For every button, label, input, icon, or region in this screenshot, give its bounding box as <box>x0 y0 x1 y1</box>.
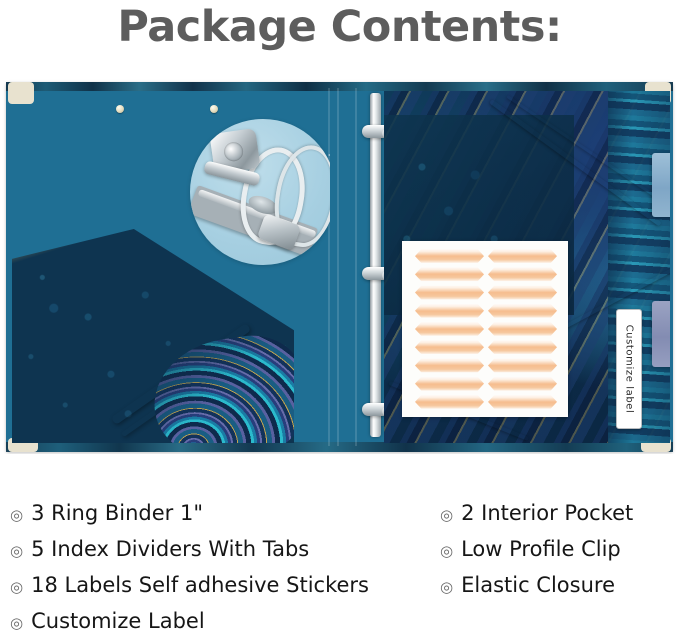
label-sticker <box>415 266 484 282</box>
label-sticker <box>488 248 557 264</box>
double-circle-bullet-icon: ◎ <box>10 570 23 604</box>
binder-open-body: Customize label <box>6 82 673 452</box>
label-sticker <box>415 394 484 410</box>
package-contents-item: ◎18 Labels Self adhesive Stickers <box>10 568 430 604</box>
label-sticker <box>488 321 557 337</box>
package-contents-item: ◎Customize Label <box>10 604 430 640</box>
cover-rivet <box>210 105 218 113</box>
package-contents-item-label: Elastic Closure <box>461 568 615 602</box>
label-sticker <box>415 376 484 392</box>
package-contents-item: ◎Low Profile Clip <box>440 532 679 568</box>
label-sticker <box>488 284 557 300</box>
label-sticker <box>415 357 484 373</box>
label-sticker <box>488 266 557 282</box>
label-sticker <box>488 339 557 355</box>
cover-top-marble-strip <box>6 82 673 91</box>
label-sticker <box>415 321 484 337</box>
package-contents-item-label: 18 Labels Self adhesive Stickers <box>31 568 369 602</box>
package-contents-item: ◎Elastic Closure <box>440 568 679 604</box>
double-circle-bullet-icon: ◎ <box>440 498 453 532</box>
spine-hinge-groove <box>355 88 357 446</box>
product-photo: Customize label <box>0 78 679 454</box>
divider-tab <box>652 153 670 217</box>
customize-label-strip: Customize label <box>616 309 642 429</box>
package-contents-item-label: 2 Interior Pocket <box>461 496 633 530</box>
sticker-grid <box>415 248 557 410</box>
package-contents-left-column: ◎3 Ring Binder 1"◎5 Index Dividers With … <box>10 496 430 640</box>
package-contents-list: ◎3 Ring Binder 1"◎5 Index Dividers With … <box>0 496 679 634</box>
divider-tab <box>652 301 670 367</box>
binder-right-page: Customize label <box>358 91 679 443</box>
double-circle-bullet-icon: ◎ <box>10 606 23 640</box>
ring-clip-magnifier-callout <box>190 119 330 265</box>
cover-bottom-marble-strip <box>6 442 673 452</box>
package-contents-item-label: 3 Ring Binder 1" <box>31 496 203 530</box>
ring-binder-rail <box>370 93 381 437</box>
cover-rivet <box>116 105 124 113</box>
label-sticker <box>415 248 484 264</box>
package-contents-item: ◎3 Ring Binder 1" <box>10 496 430 532</box>
package-contents-item: ◎2 Interior Pocket <box>440 496 679 532</box>
double-circle-bullet-icon: ◎ <box>440 534 453 568</box>
customize-label-text: Customize label <box>624 325 635 414</box>
double-circle-bullet-icon: ◎ <box>440 570 453 604</box>
package-contents-item-label: Customize Label <box>31 604 205 638</box>
package-contents-item-label: Low Profile Clip <box>461 532 621 566</box>
label-sticker-sheet <box>402 241 568 417</box>
label-sticker <box>488 303 557 319</box>
spine-hinge-groove <box>337 88 339 446</box>
double-circle-bullet-icon: ◎ <box>10 498 23 532</box>
page-title: Package Contents: <box>0 2 679 52</box>
label-sticker <box>488 376 557 392</box>
package-contents-right-column: ◎2 Interior Pocket◎Low Profile Clip◎Elas… <box>440 496 679 604</box>
label-sticker <box>415 284 484 300</box>
package-contents-item-label: 5 Index Dividers With Tabs <box>31 532 309 566</box>
package-contents-item: ◎5 Index Dividers With Tabs <box>10 532 430 568</box>
label-sticker <box>415 339 484 355</box>
label-sticker <box>488 394 557 410</box>
callout-arrow-icon <box>328 138 330 172</box>
binder-left-inside-cover <box>12 91 330 443</box>
double-circle-bullet-icon: ◎ <box>10 534 23 568</box>
label-sticker <box>415 303 484 319</box>
label-sticker <box>488 357 557 373</box>
